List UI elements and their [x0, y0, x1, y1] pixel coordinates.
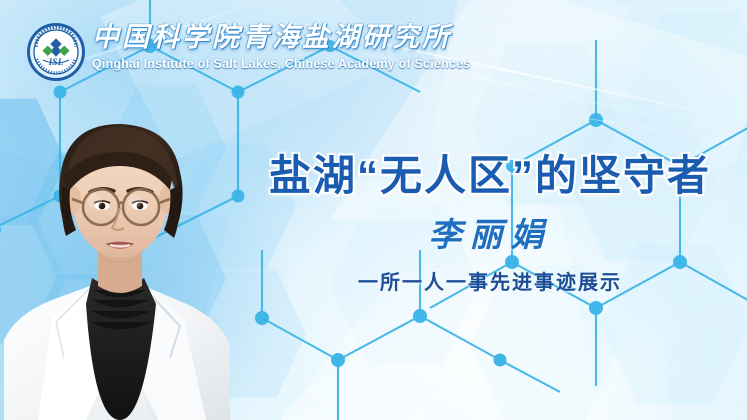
- organization-names: 中国科学院青海盐湖研究所 Qinghai Institute of Salt L…: [92, 20, 470, 71]
- org-name-english: Qinghai Institute of Salt Lakes, Chinese…: [92, 57, 470, 71]
- network-node: [589, 113, 603, 127]
- subtitle: 一所一人一事先进事迹展示: [255, 270, 725, 296]
- title-block: 盐湖“无人区”的坚守者 李丽娟 一所一人一事先进事迹展示: [255, 150, 725, 296]
- site-header: ISL 中国科学院青海盐湖研究所 Qinghai Institute of Sa…: [0, 0, 747, 96]
- network-node: [413, 309, 427, 323]
- institute-seal-icon: ISL: [26, 22, 86, 82]
- network-node: [589, 301, 603, 315]
- network-node: [494, 354, 507, 367]
- light-streak: [422, 92, 747, 149]
- person-name: 李丽娟: [255, 216, 725, 256]
- org-name-chinese: 中国科学院青海盐湖研究所: [92, 20, 470, 54]
- network-node: [331, 353, 345, 367]
- person-portrait-photo: [0, 90, 246, 420]
- main-title: 盐湖“无人区”的坚守者: [255, 150, 725, 202]
- network-node: [255, 311, 269, 325]
- poster-canvas: ISL 中国科学院青海盐湖研究所 Qinghai Institute of Sa…: [0, 0, 747, 420]
